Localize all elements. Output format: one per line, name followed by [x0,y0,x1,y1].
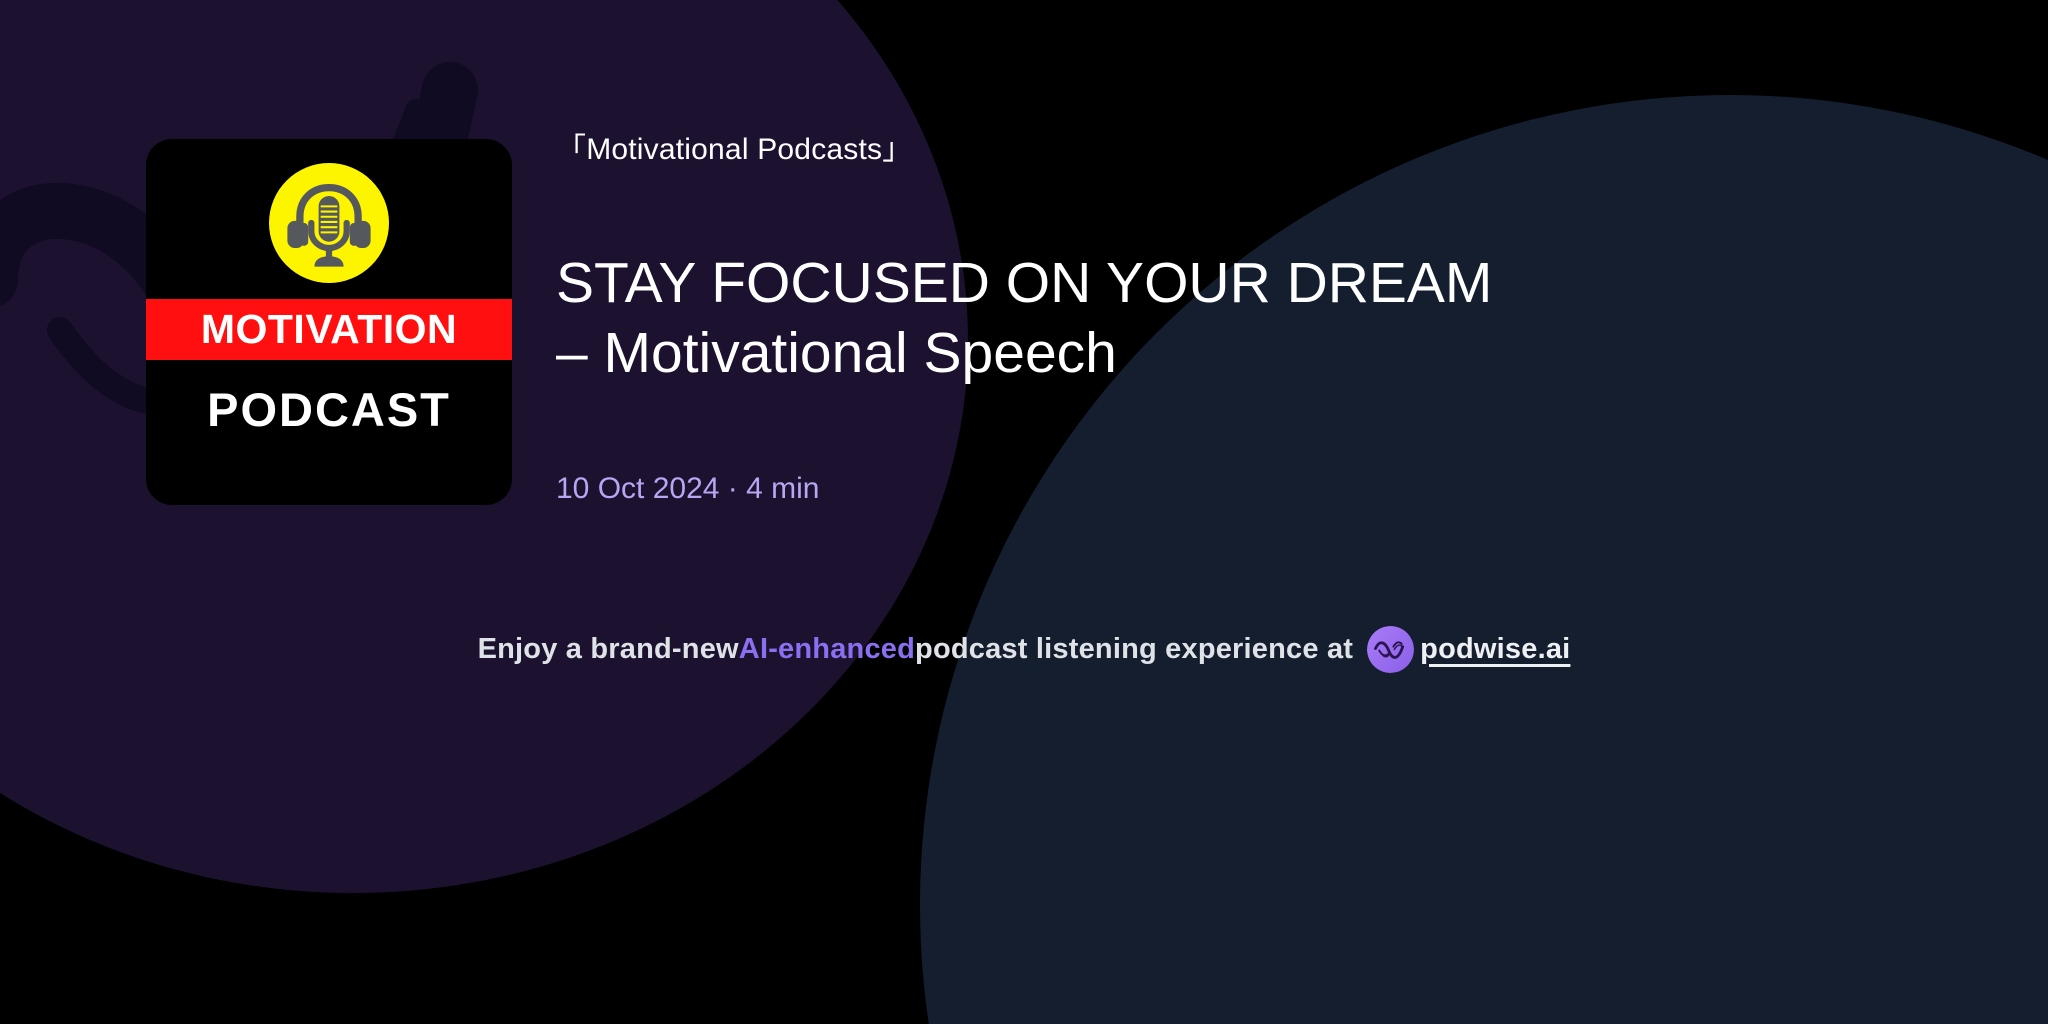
footer-banner: Enjoy a brand-new AI-enhanced podcast li… [0,614,2048,684]
tagline-highlight: AI-enhanced [739,633,915,666]
episode-meta: 10 Oct 2024 · 4 min [556,472,1976,506]
episode-title: STAY FOCUSED ON YOUR DREAM – Motivationa… [556,248,1976,388]
podcast-episode-share-card: MOTIVATION PODCAST 「Motivational Podcast… [0,0,2048,1024]
artwork-bottom-section: PODCAST [146,360,512,505]
microphone-badge [269,163,389,283]
podwise-brand-name[interactable]: podwise.ai [1420,633,1570,666]
artwork-title-band: MOTIVATION [146,299,512,360]
podcast-cover-art: MOTIVATION PODCAST [146,139,512,505]
podwise-brand-link[interactable]: podwise.ai [1367,626,1570,673]
footer-tagline: Enjoy a brand-new AI-enhanced podcast li… [478,626,1571,673]
microphone-headphones-icon [277,171,381,275]
episode-text-column: 「Motivational Podcasts」 STAY FOCUSED ON … [556,132,1976,506]
artwork-bottom-text: PODCAST [207,382,451,437]
artwork-top-section [146,139,512,299]
artwork-band-text: MOTIVATION [201,306,457,353]
tagline-part-2: podcast listening experience at [915,633,1353,666]
episode-title-line-2: – Motivational Speech [556,318,1976,388]
tagline-part-1: Enjoy a brand-new [478,633,739,666]
episode-title-line-1: STAY FOCUSED ON YOUR DREAM [556,248,1976,318]
podwise-wave-logo-icon [1367,626,1414,673]
show-name: 「Motivational Podcasts」 [556,132,1976,168]
